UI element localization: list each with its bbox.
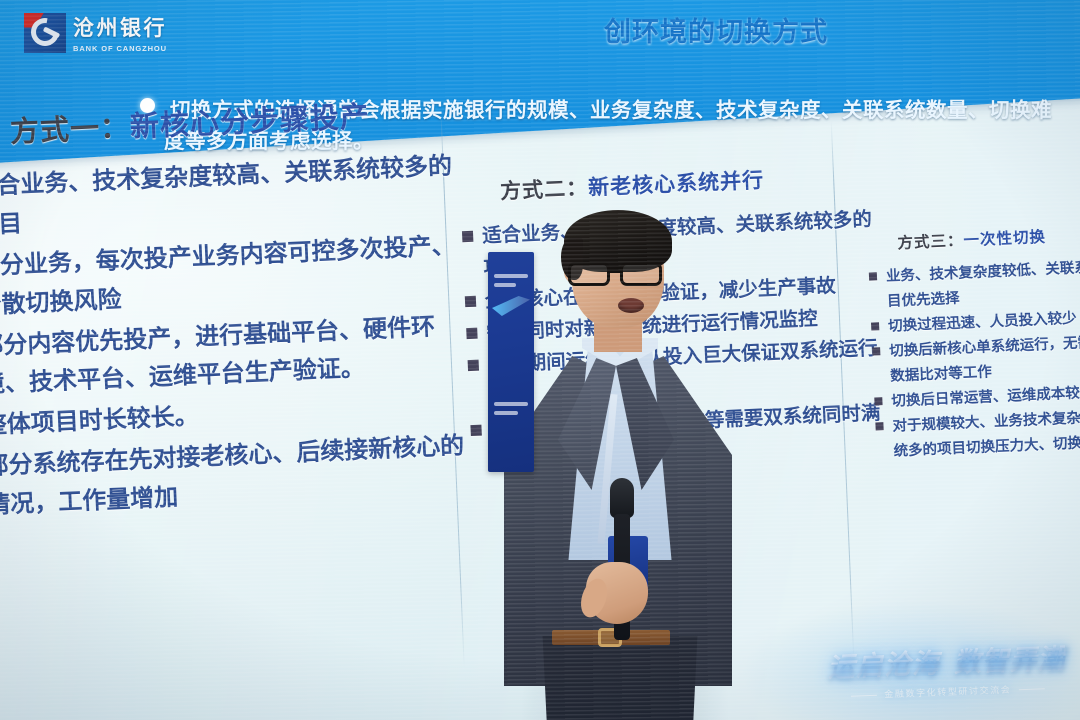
column-1-bullets: 适合业务、技术复杂度较高、关联系统较多的项目 拆分业务，每次投产业务内容可控多次… xyxy=(0,147,485,527)
event-logo-title-left: 运启沧海 xyxy=(827,648,940,682)
bullet-text: 适合业务、技术复杂度较高、关联 xyxy=(0,158,333,201)
bank-name-en: BANK OF CANGZHOU xyxy=(73,44,167,53)
column-2-heading-prefix: 方式二： xyxy=(500,177,589,204)
bullet-square-icon xyxy=(465,295,476,306)
event-logo-title: 运启沧海数智弄潮 xyxy=(827,636,1066,684)
bullet-square-icon xyxy=(869,272,877,280)
bullet-text: 部分内容优先投产，进行基础平台、 xyxy=(0,316,364,360)
event-logo: 运启沧海数智弄潮 金融数字化转型研讨交流会 xyxy=(827,636,1067,702)
column-2-heading: 方式二：新老核心系统并行 xyxy=(500,159,881,206)
microphone-flag xyxy=(488,252,534,472)
bullet-square-icon xyxy=(468,360,479,371)
column-1-heading: 方式一：新核心分步骤投产 xyxy=(9,89,468,151)
microphone-grille xyxy=(610,478,634,518)
bullet-text-cont2: 生产验证。 xyxy=(244,355,365,387)
bullet-square-icon xyxy=(874,397,882,405)
bullet-text: 部分系统存在先对接老核心、后续 xyxy=(0,438,345,481)
bullet-text: 拆分业务，每次投产业务内容可控 xyxy=(0,237,336,280)
list-item: 业务、技术复杂度较低、关联系统较少的项目优先选择 xyxy=(869,253,1080,316)
column-2-heading-accent: 新老核心系统并行 xyxy=(588,169,765,200)
conference-photo: 切换方式的选择通常会根据实施银行的规模、业务复杂度、技术复杂度、关联系统数量、切… xyxy=(0,0,1080,720)
column-3-heading-prefix: 方式三： xyxy=(897,232,964,252)
bullet-square-icon xyxy=(462,231,473,242)
bullet-square-icon xyxy=(875,422,883,430)
bullet-square-icon xyxy=(466,328,477,339)
column-3-bullets: 业务、技术复杂度较低、关联系统较少的项目优先选择 切换过程迅速、人员投入较少 切… xyxy=(869,253,1080,465)
speaker-person xyxy=(490,206,740,720)
speaker-trousers xyxy=(532,636,708,720)
bullet-text: 对于规模较大、业务技术复杂度高、 xyxy=(892,408,1080,434)
column-3-heading: 方式三：一次性切换 xyxy=(897,220,1080,254)
speaker-glasses-icon xyxy=(566,262,670,286)
speaker-mouth xyxy=(618,298,644,313)
bank-logo: 沧州银行 BANK OF CANGZHOU xyxy=(24,12,167,53)
slide-column-3: 方式三：一次性切换 业务、技术复杂度较低、关联系统较少的项目优先选择 切换过程迅… xyxy=(867,220,1080,465)
bullet-text-cont2: 换风险高。 xyxy=(1067,433,1080,452)
bank-name-cn: 沧州银行 xyxy=(73,12,167,42)
column-1-heading-accent: 新核心分步骤投产 xyxy=(129,101,370,143)
bullet-square-icon xyxy=(470,425,481,436)
slide-title: 创环境的切换方式 xyxy=(604,10,828,49)
bullet-text: 业务、技术复杂度较低、关联系统 xyxy=(886,259,1080,284)
column-1-heading-prefix: 方式一： xyxy=(9,112,130,149)
column-3-heading-accent: 一次性切换 xyxy=(963,229,1046,250)
bullet-text: 切换后新核心单系统运行，无需 xyxy=(889,335,1080,360)
slide-column-1: 方式一：新核心分步骤投产 适合业务、技术复杂度较高、关联系统较多的项目 拆分业务… xyxy=(0,89,485,529)
bullet-square-icon xyxy=(872,347,880,355)
bullet-text: 整体项目时长较长。 xyxy=(0,398,200,446)
bullet-square-icon xyxy=(871,322,879,330)
bullet-text-cont: 事故 xyxy=(796,275,836,299)
bank-logo-mark-icon xyxy=(24,13,66,53)
event-logo-title-right: 数智弄潮 xyxy=(953,643,1066,677)
